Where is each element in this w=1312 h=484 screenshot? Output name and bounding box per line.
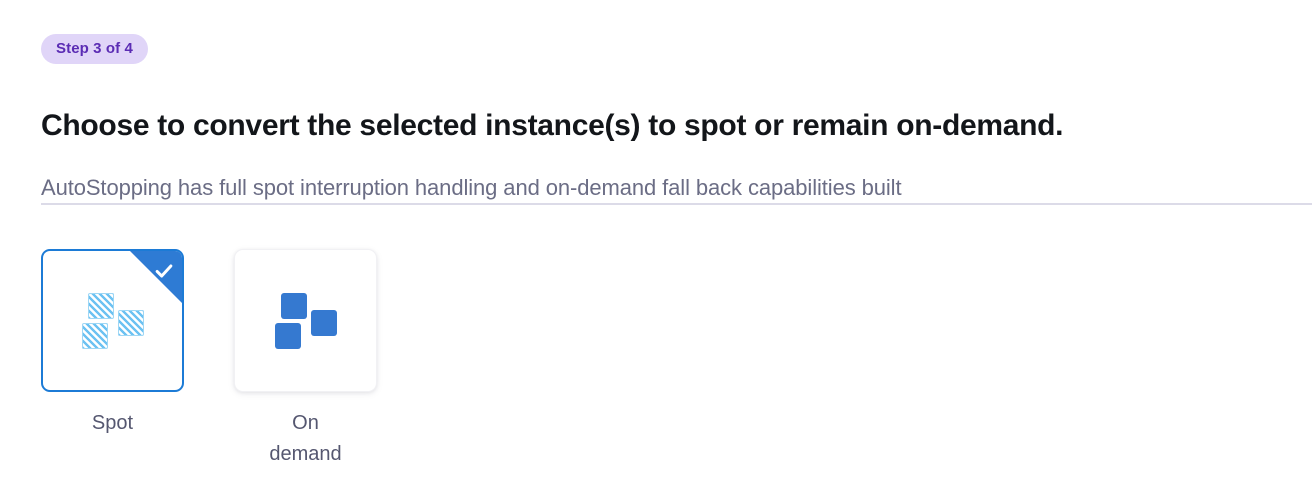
solid-square-top-left [281,293,307,319]
step-indicator: Step 3 of 4 [41,34,148,64]
option-card-spot[interactable] [41,249,184,392]
solid-square-bottom-left [275,323,301,349]
hatched-square-top-left [88,293,114,319]
solid-squares-icon [275,293,337,349]
check-icon [153,260,175,282]
section-divider [41,203,1312,205]
hatched-squares-icon [82,293,144,349]
spot-conversion-step-panel: Step 3 of 4 Choose to convert the select… [0,0,1312,484]
page-subtitle: AutoStopping has full spot interruption … [41,174,901,202]
page-title: Choose to convert the selected instance(… [41,108,1063,144]
option-cell-on-demand: On demand [234,249,377,470]
hatched-square-middle-right [118,310,144,336]
instance-type-options: Spot On demand [41,249,377,470]
option-label-spot: Spot [92,408,133,439]
solid-square-middle-right [311,310,337,336]
hatched-square-bottom-left [82,323,108,349]
option-cell-spot: Spot [41,249,184,439]
option-card-on-demand[interactable] [234,249,377,392]
step-badge: Step 3 of 4 [41,34,148,64]
option-label-on-demand: On demand [246,408,366,470]
